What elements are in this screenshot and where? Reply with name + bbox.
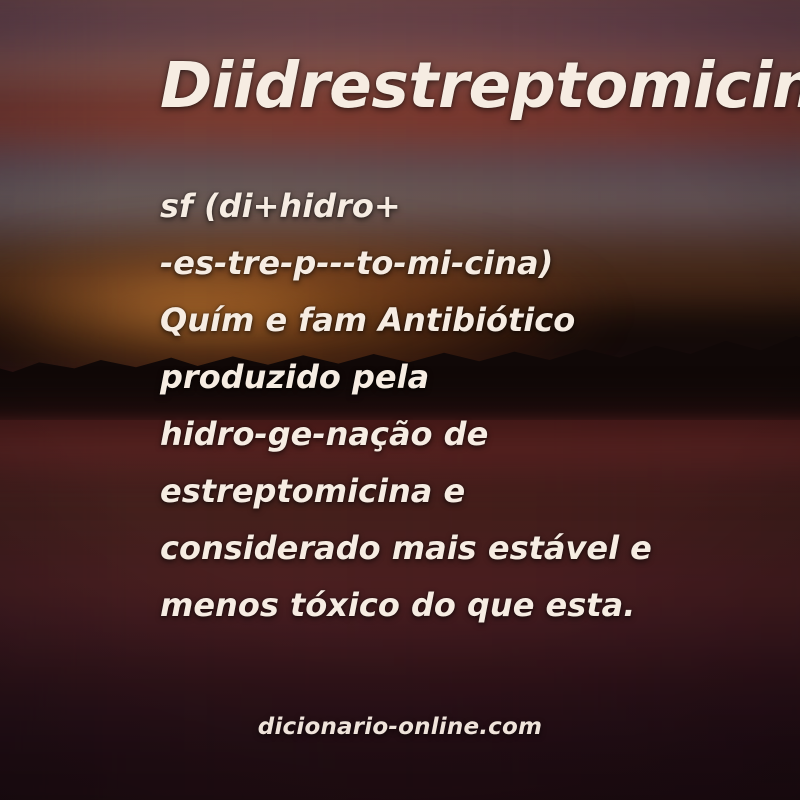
definition-line: considerado mais estável e (160, 520, 680, 577)
definition-line: Quím e fam Antibiótico (160, 292, 680, 349)
source-attribution: dicionario-online.com (0, 714, 800, 740)
definition-line: produzido pela (160, 349, 680, 406)
definition-line: menos tóxico do que esta. (160, 577, 680, 634)
dictionary-entry-card: Diidrestreptomicina sf (di+hidro+ -es-tr… (0, 0, 800, 800)
headword-title: Diidrestreptomicina (160, 52, 800, 120)
definition-line: -es-tre-p---to-mi-cina) (160, 235, 680, 292)
card-content: Diidrestreptomicina sf (di+hidro+ -es-tr… (0, 0, 800, 800)
definition-line: sf (di+hidro+ (160, 178, 680, 235)
definition-line: estreptomicina e (160, 463, 680, 520)
definition-line: hidro-ge-nação de (160, 406, 680, 463)
definition-text: sf (di+hidro+ -es-tre-p---to-mi-cina) Qu… (160, 178, 680, 634)
